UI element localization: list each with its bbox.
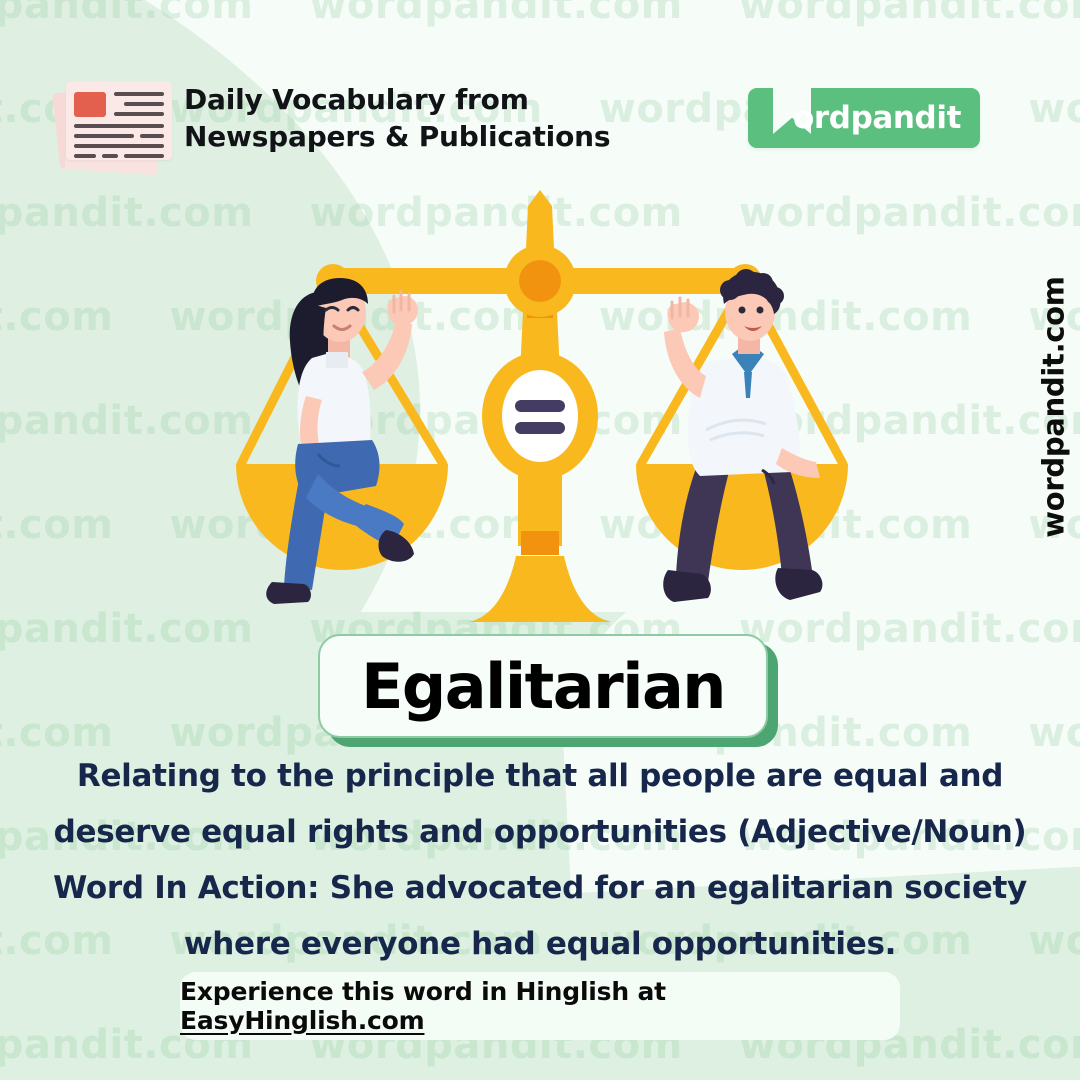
word-title: Egalitarian [361,650,725,723]
header-title: Daily Vocabulary from Newspapers & Publi… [184,82,610,156]
newspaper-icon [56,72,178,168]
footer-text: Experience this word in Hinglish at Easy… [180,977,900,1035]
easyhinglish-link[interactable]: EasyHinglish.com [180,1006,424,1035]
balance-scale-illustration [0,186,1080,646]
logo-label: ordpandit [793,88,961,148]
wordpandit-logo[interactable]: ordpandit [748,88,980,148]
scale-svg [0,186,1080,646]
footer-prefix: Experience this word in Hinglish at [180,977,666,1006]
example-block: Word In Action: She advocated for an ega… [0,860,1080,972]
header-title-line2: Newspapers & Publications [184,119,610,156]
footer-cta[interactable]: Experience this word in Hinglish at Easy… [180,972,900,1040]
example-line-1: Word In Action: She advocated for an ega… [0,860,1080,916]
definition-line-1: Relating to the principle that all peopl… [0,748,1080,804]
definition-line-2: deserve equal rights and opportunities (… [0,804,1080,860]
word-card: Egalitarian [318,634,768,742]
word-card-body: Egalitarian [318,634,768,738]
example-line-2: where everyone had equal opportunities. [0,916,1080,972]
header: Daily Vocabulary from Newspapers & Publi… [0,0,1080,190]
header-title-line1: Daily Vocabulary from [184,82,610,119]
poster-canvas: wordpandit.comwordpandit.comwordpandit.c… [0,0,1080,1080]
definition-block: Relating to the principle that all peopl… [0,748,1080,860]
